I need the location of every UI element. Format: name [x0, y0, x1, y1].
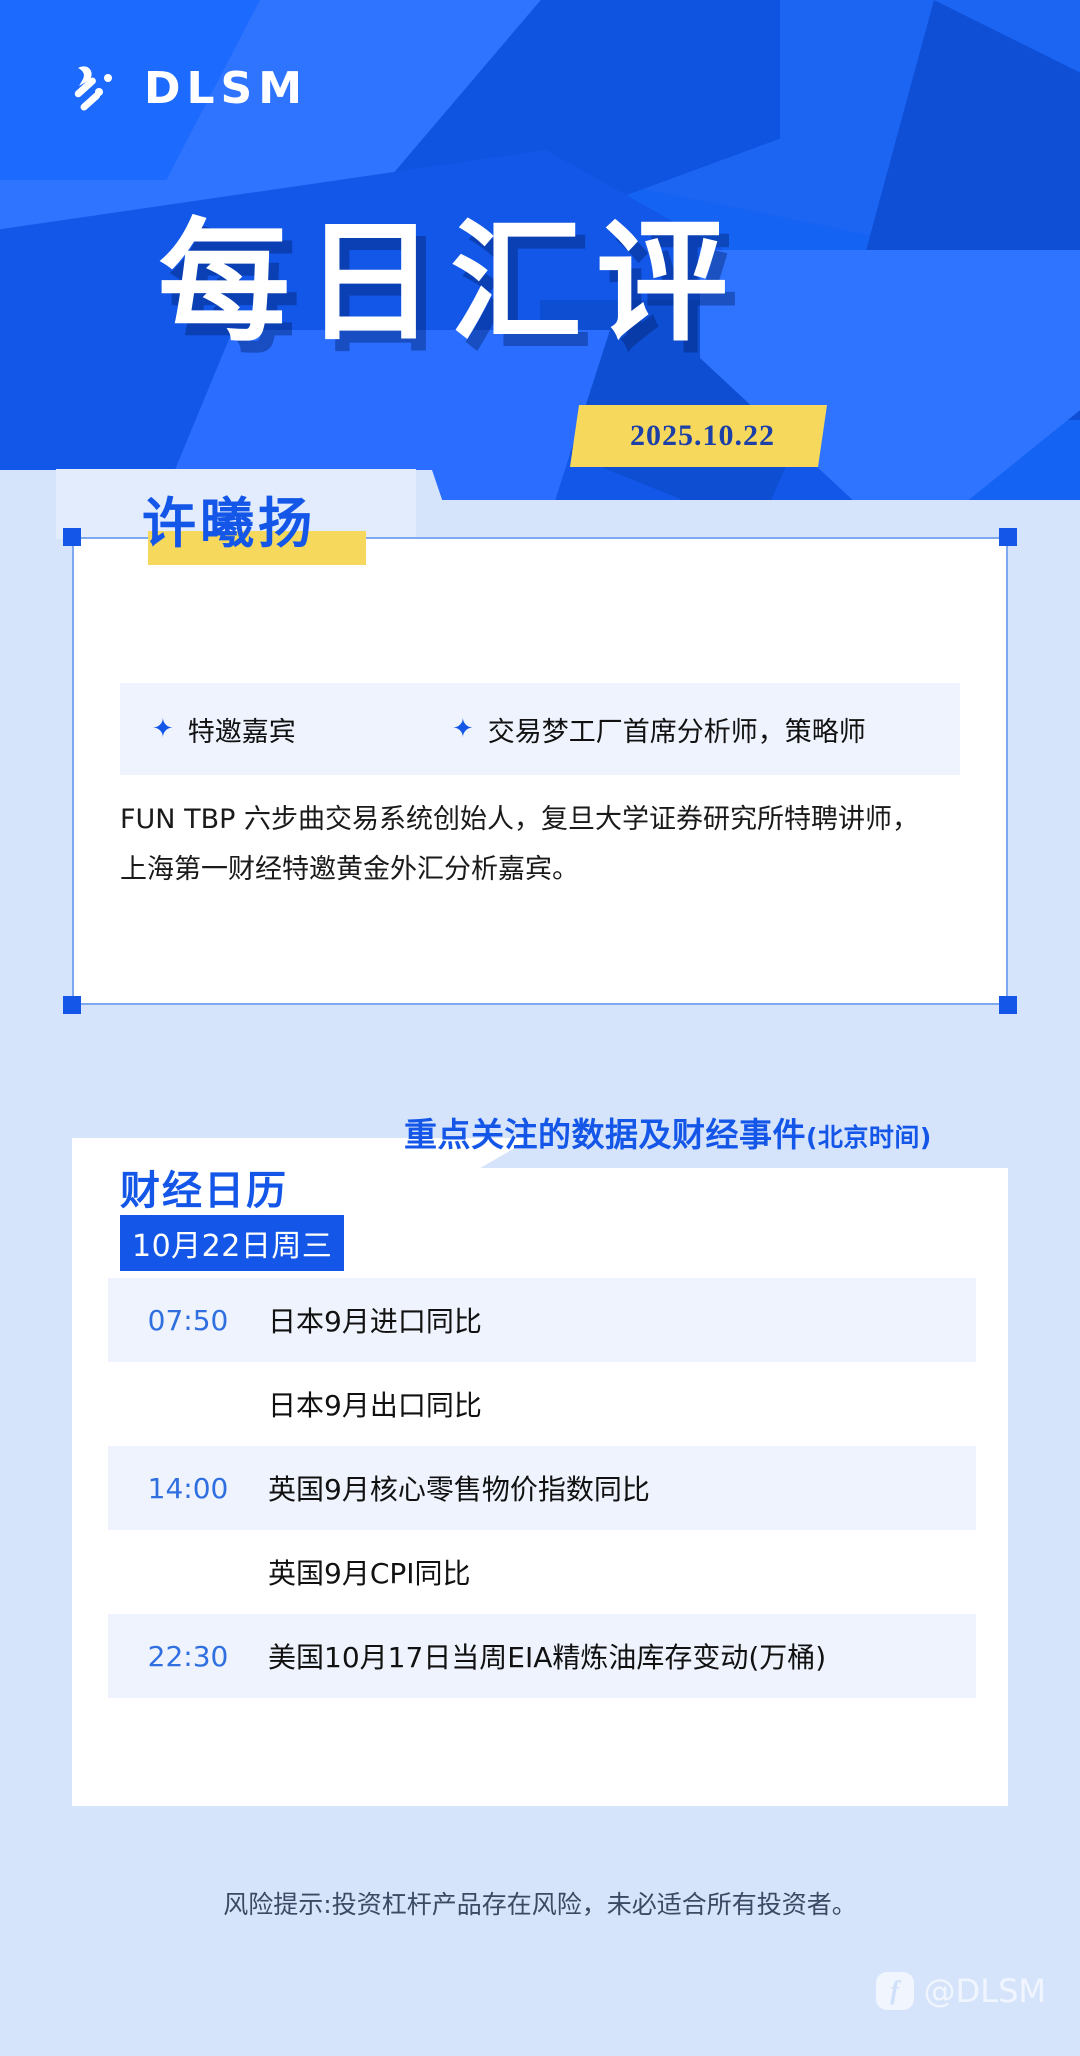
corner-marker-bottom-right: [999, 996, 1017, 1014]
table-row[interactable]: 日本9月出口同比: [108, 1362, 976, 1446]
calendar-event-list: 07:50 日本9月进口同比 日本9月出口同比 14:00 英国9月核心零售物价…: [108, 1278, 976, 1698]
corner-marker-bottom-left: [63, 996, 81, 1014]
event-name: 日本9月进口同比: [268, 1300, 482, 1340]
guest-card: 许曦扬 ✦ 特邀嘉宾 ✦ 交易梦工厂首席分析师，策略师 FUN TBP 六步曲交…: [72, 537, 1008, 1005]
diamond-icon: ✦: [452, 714, 474, 744]
watermark: f @DLSM: [876, 1972, 1046, 2010]
event-time: 22:30: [108, 1640, 268, 1673]
event-name: 美国10月17日当周EIA精炼油库存变动(万桶): [268, 1636, 826, 1676]
header-date-badge: 2025.10.22: [570, 405, 827, 467]
calendar-date-badge: 10月22日周三: [120, 1215, 344, 1271]
guest-bio: FUN TBP 六步曲交易系统创始人，复旦大学证券研究所特聘讲师，上海第一财经特…: [120, 795, 930, 895]
event-time: 14:00: [108, 1472, 268, 1505]
event-name: 日本9月出口同比: [268, 1384, 482, 1424]
corner-marker-top-left: [63, 528, 81, 546]
calendar-panel-title: 财经日历: [120, 1158, 288, 1216]
guest-tag-0: ✦ 特邀嘉宾: [152, 710, 452, 749]
diamond-icon: ✦: [152, 714, 174, 744]
watermark-handle: @DLSM: [924, 1972, 1046, 2010]
guest-tag-1: ✦ 交易梦工厂首席分析师，策略师: [452, 710, 866, 749]
risk-disclaimer: 风险提示:投资杠杆产品存在风险，未必适合所有投资者。: [0, 1885, 1080, 1921]
guest-tag-label: 交易梦工厂首席分析师，策略师: [488, 710, 866, 749]
f-badge-icon: f: [876, 1972, 914, 2010]
dlsm-mark-icon: [68, 62, 128, 114]
calendar-section-heading: 重点关注的数据及财经事件(北京时间): [404, 1108, 932, 1156]
page-title: 每日汇评: [0, 176, 900, 367]
brand-logo[interactable]: DLSM: [68, 62, 308, 114]
calendar-section-heading-main: 重点关注的数据及财经事件: [404, 1115, 806, 1154]
guest-name-wrap: 许曦扬: [142, 479, 316, 558]
event-time: 07:50: [108, 1304, 268, 1337]
brand-logo-text: DLSM: [144, 63, 308, 114]
table-row[interactable]: 英国9月CPI同比: [108, 1530, 976, 1614]
guest-name: 许曦扬: [142, 479, 316, 558]
event-name: 英国9月核心零售物价指数同比: [268, 1468, 650, 1508]
table-row[interactable]: 07:50 日本9月进口同比: [108, 1278, 976, 1362]
event-name: 英国9月CPI同比: [268, 1552, 471, 1592]
table-row[interactable]: 22:30 美国10月17日当周EIA精炼油库存变动(万桶): [108, 1614, 976, 1698]
table-row[interactable]: 14:00 英国9月核心零售物价指数同比: [108, 1446, 976, 1530]
guest-tag-label: 特邀嘉宾: [188, 710, 296, 749]
corner-marker-top-right: [999, 528, 1017, 546]
guest-tag-row: ✦ 特邀嘉宾 ✦ 交易梦工厂首席分析师，策略师: [120, 683, 960, 775]
poster-root: DLSM 每日汇评 2025.10.22 许曦扬 ✦ 特邀嘉宾 ✦ 交易梦工厂首…: [0, 0, 1080, 2056]
calendar-section-heading-sub: (北京时间): [806, 1123, 932, 1152]
